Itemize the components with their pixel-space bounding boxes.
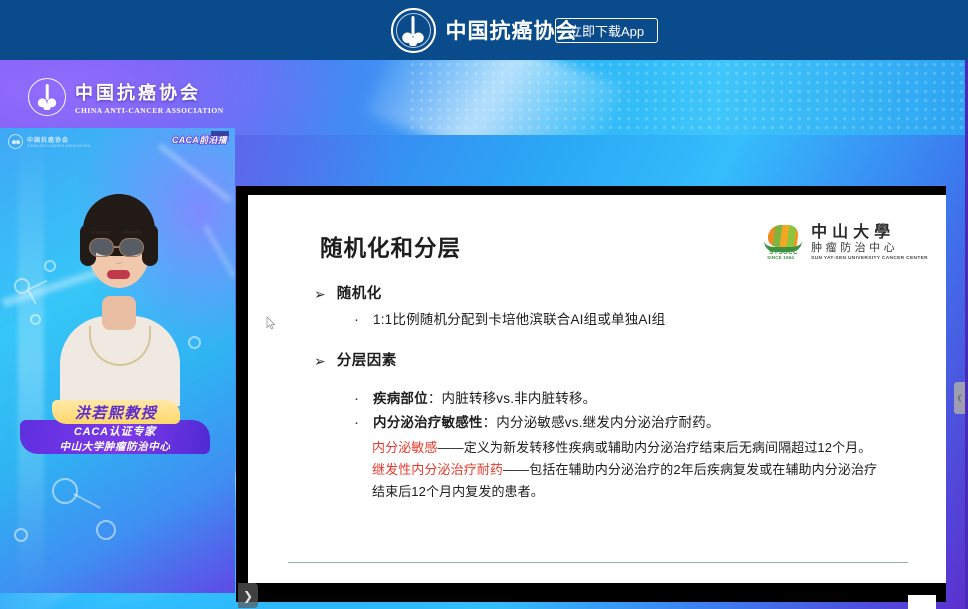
presenter-neck <box>102 296 136 330</box>
slide-bullet-item: · 疾病部位：内脏转移vs.非内脏转移。 <box>354 389 934 409</box>
caca-seal-icon <box>28 78 66 116</box>
event-banner: 中国抗癌协会 CHINA ANTI-CANCER ASSOCIATION CAC… <box>0 60 968 135</box>
molecule-decoration-icon <box>14 528 28 542</box>
slide-title: 随机化和分层 <box>320 231 461 263</box>
seal-ring-decoration <box>396 13 431 48</box>
banner-organization: 中国抗癌协会 CHINA ANTI-CANCER ASSOCIATION <box>28 78 224 116</box>
molecule-decoration-icon <box>44 260 56 272</box>
institution-name-cn: 中山大學 <box>811 225 928 242</box>
slide-next-button[interactable]: ❯ <box>238 583 258 608</box>
livestream-page: 中国抗癌协会 立即下载App 中国抗癌协会 CHINA ANTI-CANCER … <box>0 0 968 609</box>
nameplate-body: CACA认证专家 中山大学肿瘤防治中心 <box>20 420 210 454</box>
slide-canvas: 随机化和分层 SYSUCC SINCE 1964 中山大學 肿瘤防治中心 SUN… <box>248 195 946 583</box>
chevron-right-icon: ❯ <box>243 590 253 602</box>
presenter-nose <box>116 256 122 264</box>
definition-term: 继发性内分泌治疗耐药 <box>372 462 503 477</box>
stream-status-chip <box>211 131 229 136</box>
presenter-hair-side <box>142 224 158 266</box>
presenter-lips <box>107 270 130 279</box>
presenter-brow <box>122 231 142 234</box>
bg-streak <box>18 128 44 593</box>
sysucc-mark-icon: SYSUCC SINCE 1964 <box>764 225 804 261</box>
arrow-bullet-icon: ➢ <box>314 352 326 371</box>
bullet-text: ：内脏转移vs.非内脏转移。 <box>428 391 597 406</box>
site-header: 中国抗癌协会 立即下载App <box>0 0 968 60</box>
dot-bullet-icon: · <box>354 310 361 330</box>
institution-name-en: SUN YAT-SEN UNIVERSITY CANCER CENTER <box>811 256 928 261</box>
slide-section-heading: ➢ 分层因素 <box>314 352 934 371</box>
slide-body: ➢ 随机化 · 1:1比例随机分配到卡培他滨联合AI组或单独AI组 ➢ 分层因素 <box>314 285 934 503</box>
slide-section-heading: ➢ 随机化 <box>314 285 934 304</box>
dot-bullet-icon: · <box>354 389 361 409</box>
side-panel-handle[interactable]: ❮ <box>954 382 965 414</box>
presenter-name: 洪若熙教授 <box>75 402 158 423</box>
presenter-video-panel[interactable]: 中国抗癌协会 CHINA ANTI-CANCER ASSOCIATION CAC… <box>0 128 235 593</box>
bullet-text: 1:1比例随机分配到卡培他滨联合AI组或单独AI组 <box>373 310 665 330</box>
presenter-credential: CACA认证专家 <box>74 423 156 439</box>
brand: 中国抗癌协会 <box>391 8 578 53</box>
definition-body: ——包括在辅助内分泌治疗的2年后疾病复发或在辅助内分泌治疗 <box>503 462 877 477</box>
slide-definition-notes: 内分泌敏感——定义为新发转移性疾病或辅助内分泌治疗结束后无病间隔超过12个月。 … <box>372 437 934 503</box>
section-heading-text: 随机化 <box>337 285 382 304</box>
definition-term: 内分泌敏感 <box>372 440 438 455</box>
definition-note: 继发性内分泌治疗耐药——包括在辅助内分泌治疗的2年后疾病复发或在辅助内分泌治疗 <box>372 459 934 481</box>
bottom-right-chip <box>908 595 936 609</box>
molecule-bond <box>27 290 37 305</box>
caca-seal-icon <box>391 8 436 53</box>
presenter-affiliation: 中山大学肿瘤防治中心 <box>60 439 171 454</box>
bullet-bold-prefix: 内分泌治疗敏感性 <box>373 415 483 430</box>
molecule-bond <box>29 280 48 291</box>
molecule-decoration-icon <box>188 336 201 349</box>
presenter-figure <box>62 186 177 398</box>
caca-seal-icon <box>8 134 23 149</box>
institution-dept-cn: 肿瘤防治中心 <box>811 243 928 255</box>
stream-stage: 中国抗癌协会 CHINA ANTI-CANCER ASSOCIATION CAC… <box>0 60 968 609</box>
molecule-bond <box>73 493 100 509</box>
institution-logo: SYSUCC SINCE 1964 中山大學 肿瘤防治中心 SUN YAT-SE… <box>764 225 928 261</box>
bg-streak <box>202 224 235 280</box>
dot-bullet-icon: · <box>354 413 361 433</box>
letterbox-bottom <box>236 583 946 602</box>
nameplate-name-banner: 洪若熙教授 <box>52 400 180 424</box>
slide-footer-rule <box>288 562 908 564</box>
bullet-bold-prefix: 疾病部位 <box>373 391 428 406</box>
presenter-logo-cn: 中国抗癌协会 <box>27 135 90 144</box>
letterbox-top <box>236 186 946 195</box>
bullet-text: ：内分泌敏感vs.继发内分泌治疗耐药。 <box>483 415 720 430</box>
presenter-nameplate: CACA认证专家 中山大学肿瘤防治中心 洪若熙教授 <box>20 400 216 454</box>
slide-viewer[interactable]: 随机化和分层 SYSUCC SINCE 1964 中山大學 肿瘤防治中心 SUN… <box>236 186 946 602</box>
slide-bullet-item: · 1:1比例随机分配到卡培他滨联合AI组或单独AI组 <box>354 310 934 330</box>
definition-note: 内分泌敏感——定义为新发转移性疾病或辅助内分泌治疗结束后无病间隔超过12个月。 <box>372 437 934 459</box>
banner-org-name-en: CHINA ANTI-CANCER ASSOCIATION <box>75 106 224 115</box>
definition-body: 结束后12个月内复发的患者。 <box>372 484 544 499</box>
definition-note: 结束后12个月内复发的患者。 <box>372 481 934 503</box>
spacer <box>314 377 934 389</box>
molecule-decoration-icon <box>96 520 116 540</box>
slide-bullet-item: · 内分泌治疗敏感性：内分泌敏感vs.继发内分泌治疗耐药。 <box>354 413 934 433</box>
presenter-logo-en: CHINA ANTI-CANCER ASSOCIATION <box>27 144 90 148</box>
presenter-brow <box>91 231 111 234</box>
molecule-decoration-icon <box>14 278 30 294</box>
definition-body: ——定义为新发转移性疾病或辅助内分泌治疗结束后无病间隔超过12个月。 <box>438 440 872 455</box>
molecule-decoration-icon <box>30 314 41 325</box>
arrow-bullet-icon: ➢ <box>314 285 326 304</box>
banner-org-name-cn: 中国抗癌协会 <box>75 79 224 105</box>
download-app-button[interactable]: 立即下载App <box>555 18 658 43</box>
collapse-handle-icon: ❮ <box>957 395 963 402</box>
sysucc-mark-since: SINCE 1964 <box>767 255 794 260</box>
presenter-glasses <box>119 238 144 257</box>
presenter-glasses <box>89 238 114 257</box>
banner-light-streak <box>366 60 624 135</box>
spacer <box>314 334 934 352</box>
section-heading-text: 分层因素 <box>337 352 397 371</box>
presenter-glasses-bridge <box>114 246 119 248</box>
molecule-decoration-icon <box>52 478 78 504</box>
presenter-corner-logo: 中国抗癌协会 CHINA ANTI-CANCER ASSOCIATION <box>8 134 90 149</box>
